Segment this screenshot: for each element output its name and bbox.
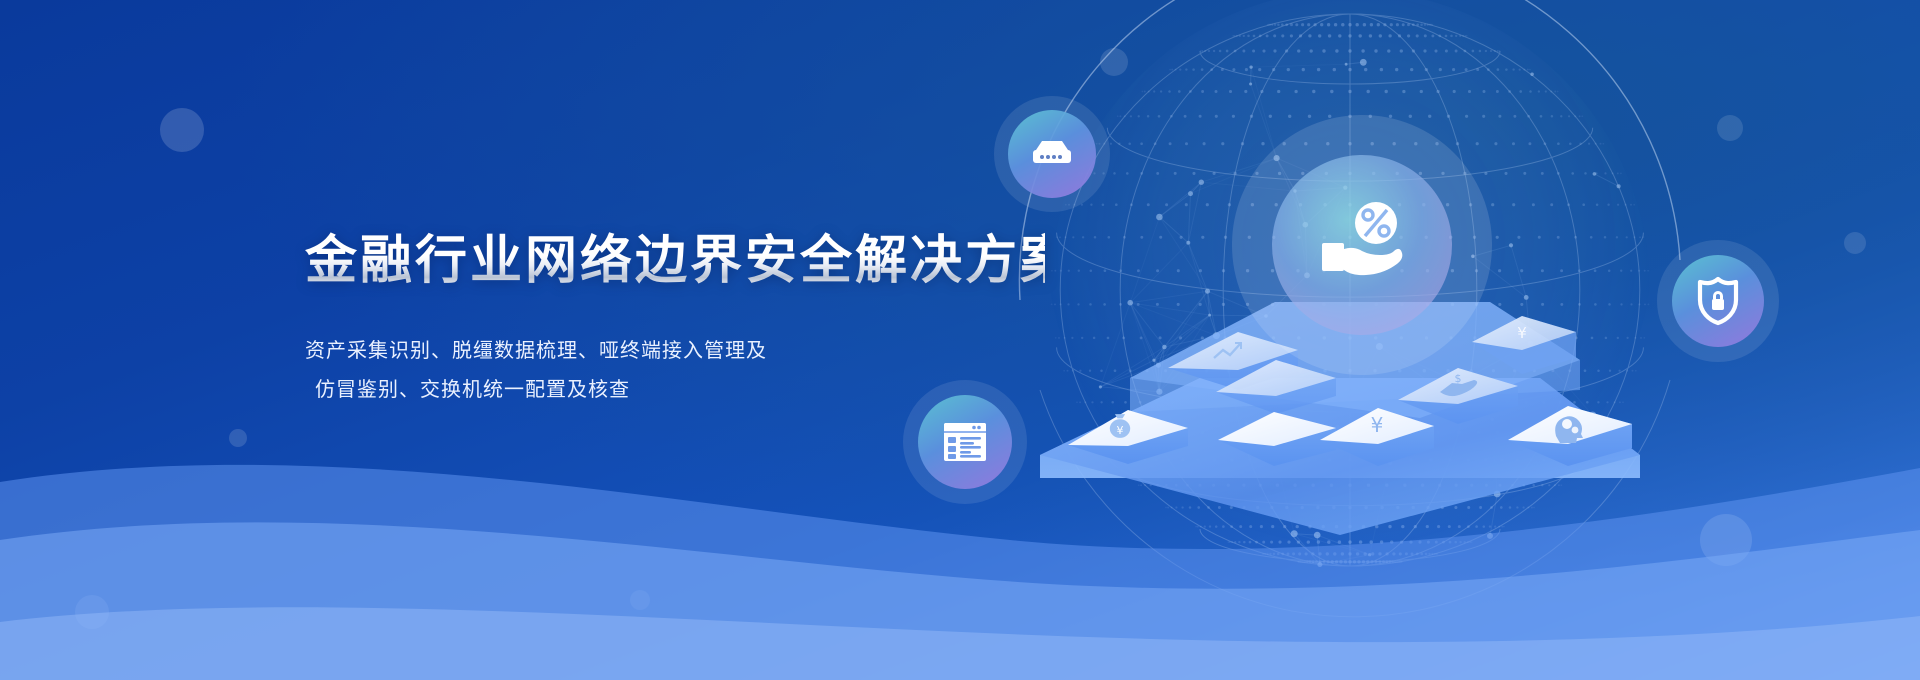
shield-icon-badge: [1672, 255, 1764, 347]
shield-lock-icon: [1695, 276, 1741, 326]
svg-text:¥: ¥: [1371, 413, 1384, 437]
router-icon: [1029, 137, 1075, 171]
banner-copy: 金融行业网络边界安全解决方案 资产采集识别、脱缰数据梳理、哑终端接入管理及 仿冒…: [305, 232, 1045, 410]
svg-text:$: $: [1455, 372, 1462, 385]
decor-bubble: [160, 108, 204, 152]
router-icon-badge: [1008, 110, 1096, 198]
svg-text:¥: ¥: [1517, 324, 1527, 342]
finance-security-banner: ¥: [0, 0, 1920, 680]
subtitle-line-1: 资产采集识别、脱缰数据梳理、哑终端接入管理及: [305, 332, 1045, 371]
decor-bubble: [1844, 232, 1866, 254]
hand-percent-coin-icon: [1308, 197, 1416, 293]
subtitle-line-2: 仿冒鉴别、交换机统一配置及核查: [305, 371, 1045, 410]
page-title: 金融行业网络边界安全解决方案: [305, 232, 1045, 290]
banner-subtitle: 资产采集识别、脱缰数据梳理、哑终端接入管理及 仿冒鉴别、交换机统一配置及核查: [305, 332, 1045, 410]
document-list-icon: [941, 420, 989, 464]
hand-percent-icon-badge: [1272, 155, 1452, 335]
svg-text:¥: ¥: [1117, 424, 1124, 437]
